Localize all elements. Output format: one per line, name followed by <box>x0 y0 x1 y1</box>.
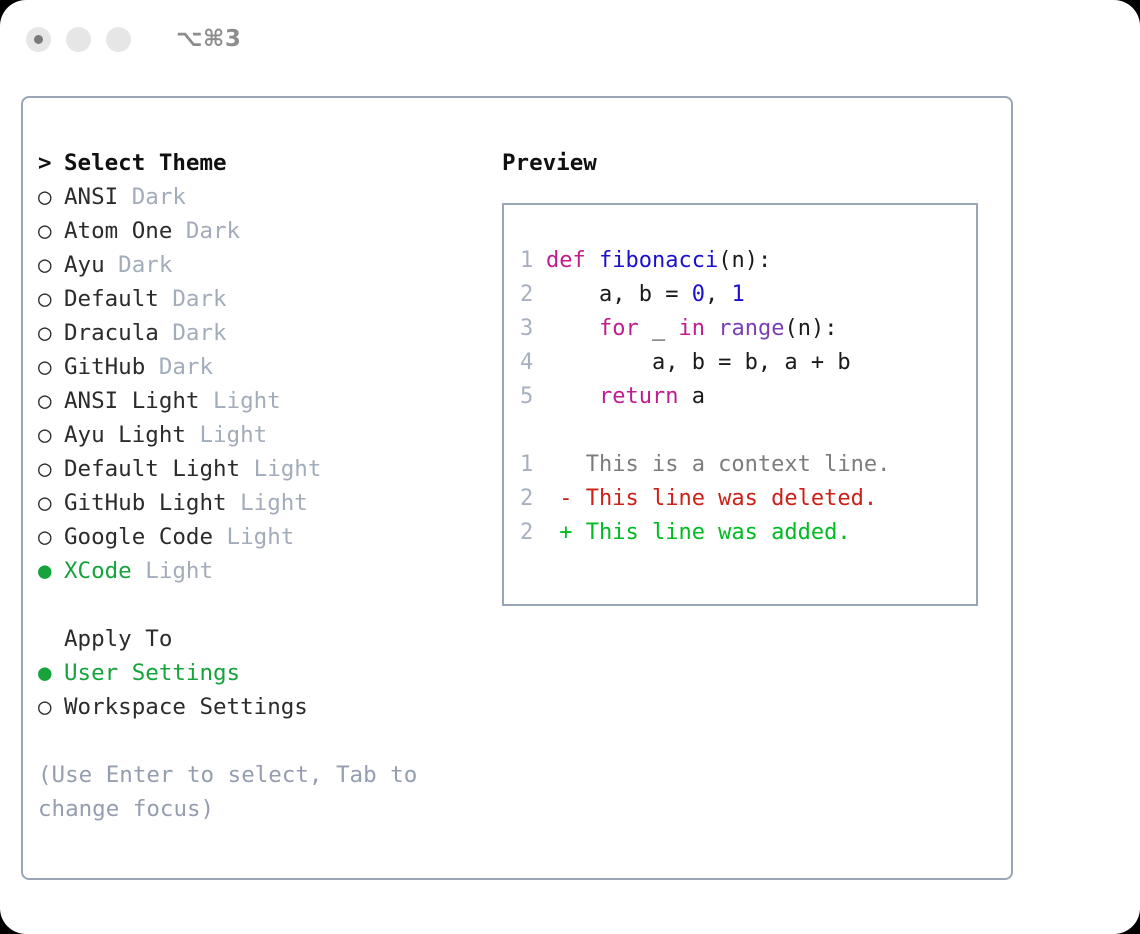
theme-name-label: GitHub Light <box>64 490 227 516</box>
theme-name-label: Google Code <box>64 524 213 550</box>
theme-list-item[interactable]: ○Default Dark <box>38 282 468 316</box>
app-window: ⌥⌘3 >Select Theme ○ANSI Dark○Atom One Da… <box>0 0 1140 934</box>
line-number: 2 <box>520 278 546 312</box>
theme-category-label: Light <box>132 558 213 584</box>
code-token: , <box>705 282 732 307</box>
theme-list-item[interactable]: ○GitHub Light Light <box>38 486 468 520</box>
code-token <box>546 384 599 409</box>
radio-selected-icon: ● <box>38 656 64 690</box>
code-token: a, b = <box>546 282 692 307</box>
code-token: def <box>546 248 599 273</box>
diff-line: 2 + This line was added. <box>520 516 976 550</box>
apply-to-heading: Apply To <box>38 622 468 656</box>
code-token: 1 <box>731 282 744 307</box>
theme-name-label: XCode <box>64 558 132 584</box>
apply-to-list: ●User Settings○Workspace Settings <box>38 656 468 724</box>
code-token <box>546 316 599 341</box>
theme-list-item[interactable]: ○Atom One Dark <box>38 214 468 248</box>
line-number: 5 <box>520 380 546 414</box>
theme-list-item[interactable]: ○Default Light Light <box>38 452 468 486</box>
main-panel: >Select Theme ○ANSI Dark○Atom One Dark○A… <box>21 96 1013 880</box>
apply-to-item[interactable]: ●User Settings <box>38 656 468 690</box>
apply-to-heading-label: Apply To <box>64 626 172 652</box>
section-spacer <box>38 588 468 622</box>
window-dot-inner <box>34 35 43 44</box>
radio-unselected-icon: ○ <box>38 350 64 384</box>
code-line: 3 for _ in range(n): <box>520 312 976 346</box>
code-token <box>705 316 718 341</box>
radio-unselected-icon: ○ <box>38 214 64 248</box>
theme-list-item[interactable]: ○Ayu Dark <box>38 248 468 282</box>
theme-category-label: Dark <box>145 354 213 380</box>
radio-unselected-icon: ○ <box>38 180 64 214</box>
code-token: + This line was added. <box>546 520 851 545</box>
code-token: range <box>718 316 784 341</box>
theme-name-label: Ayu Light <box>64 422 186 448</box>
radio-unselected-icon: ○ <box>38 384 64 418</box>
code-token: _ <box>639 316 679 341</box>
theme-list-item[interactable]: ○ANSI Dark <box>38 180 468 214</box>
code-token: a, b = b, a + b <box>546 350 851 375</box>
apply-to-label: User Settings <box>64 660 240 686</box>
line-number: 1 <box>520 244 546 278</box>
code-token: - This line was deleted. <box>546 486 877 511</box>
code-sample: 1def fibonacci(n):2 a, b = 0, 13 for _ i… <box>520 244 976 414</box>
code-token: for <box>599 316 639 341</box>
theme-category-label: Light <box>213 524 294 550</box>
code-token: return <box>599 384 678 409</box>
code-line: 4 a, b = b, a + b <box>520 346 976 380</box>
radio-unselected-icon: ○ <box>38 248 64 282</box>
theme-name-label: Default Light <box>64 456 240 482</box>
theme-name-label: ANSI <box>64 184 118 210</box>
theme-name-label: ANSI Light <box>64 388 199 414</box>
window-dot-third-icon[interactable] <box>106 27 131 52</box>
code-line: 2 a, b = 0, 1 <box>520 278 976 312</box>
theme-category-label: Light <box>186 422 267 448</box>
radio-unselected-icon: ○ <box>38 316 64 350</box>
theme-picker-column: >Select Theme ○ANSI Dark○Atom One Dark○A… <box>38 146 468 826</box>
prompt-caret-icon: > <box>38 146 64 180</box>
theme-list-item[interactable]: ○Google Code Light <box>38 520 468 554</box>
theme-name-label: Atom One <box>64 218 172 244</box>
radio-unselected-icon: ○ <box>38 452 64 486</box>
apply-to-label: Workspace Settings <box>64 694 308 720</box>
theme-list-item[interactable]: ○Ayu Light Light <box>38 418 468 452</box>
apply-to-item[interactable]: ○Workspace Settings <box>38 690 468 724</box>
line-number: 3 <box>520 312 546 346</box>
line-number: 2 <box>520 516 546 550</box>
theme-name-label: GitHub <box>64 354 145 380</box>
theme-list: ○ANSI Dark○Atom One Dark○Ayu Dark○Defaul… <box>38 180 468 588</box>
code-line: 5 return a <box>520 380 976 414</box>
code-token: (n): <box>718 248 771 273</box>
code-token: a <box>678 384 705 409</box>
title-bar: ⌥⌘3 <box>0 0 1140 78</box>
theme-category-label: Light <box>199 388 280 414</box>
theme-name-label: Dracula <box>64 320 159 346</box>
theme-list-item[interactable]: ○Dracula Dark <box>38 316 468 350</box>
theme-list-item[interactable]: ○ANSI Light Light <box>38 384 468 418</box>
diff-line: 1 This is a context line. <box>520 448 976 482</box>
radio-unselected-icon: ○ <box>38 690 64 724</box>
preview-title: Preview <box>502 146 992 180</box>
window-dot-active-icon[interactable] <box>26 27 51 52</box>
theme-picker-heading: >Select Theme <box>38 146 468 180</box>
theme-category-label: Dark <box>159 286 227 312</box>
diff-sample: 1 This is a context line.2 - This line w… <box>520 448 976 550</box>
code-line: 1def fibonacci(n): <box>520 244 976 278</box>
theme-list-item[interactable]: ○GitHub Dark <box>38 350 468 384</box>
code-token: This is a context line. <box>546 452 890 477</box>
theme-name-label: Default <box>64 286 159 312</box>
theme-name-label: Ayu <box>64 252 105 278</box>
line-number: 2 <box>520 482 546 516</box>
theme-category-label: Light <box>227 490 308 516</box>
keyboard-hint: (Use Enter to select, Tab to change focu… <box>38 758 458 826</box>
line-number: 4 <box>520 346 546 380</box>
theme-category-label: Dark <box>172 218 240 244</box>
line-number: 1 <box>520 448 546 482</box>
theme-picker-heading-label: Select Theme <box>64 150 227 176</box>
window-dot-second-icon[interactable] <box>66 27 91 52</box>
radio-unselected-icon: ○ <box>38 520 64 554</box>
radio-selected-icon: ● <box>38 554 64 588</box>
theme-category-label: Dark <box>159 320 227 346</box>
radio-unselected-icon: ○ <box>38 282 64 316</box>
theme-category-label: Dark <box>118 184 186 210</box>
radio-unselected-icon: ○ <box>38 418 64 452</box>
preview-column: Preview 1def fibonacci(n):2 a, b = 0, 13… <box>502 146 992 606</box>
theme-list-item[interactable]: ●XCode Light <box>38 554 468 588</box>
preview-box: 1def fibonacci(n):2 a, b = 0, 13 for _ i… <box>502 203 978 606</box>
diff-line: 2 - This line was deleted. <box>520 482 976 516</box>
code-token: (n): <box>784 316 837 341</box>
theme-category-label: Light <box>240 456 321 482</box>
code-token: fibonacci <box>599 248 718 273</box>
radio-unselected-icon: ○ <box>38 486 64 520</box>
theme-category-label: Dark <box>105 252 173 278</box>
code-token: 0 <box>692 282 705 307</box>
code-diff-spacer <box>520 414 976 448</box>
keyboard-shortcut-label: ⌥⌘3 <box>176 26 241 52</box>
code-token: in <box>678 316 705 341</box>
